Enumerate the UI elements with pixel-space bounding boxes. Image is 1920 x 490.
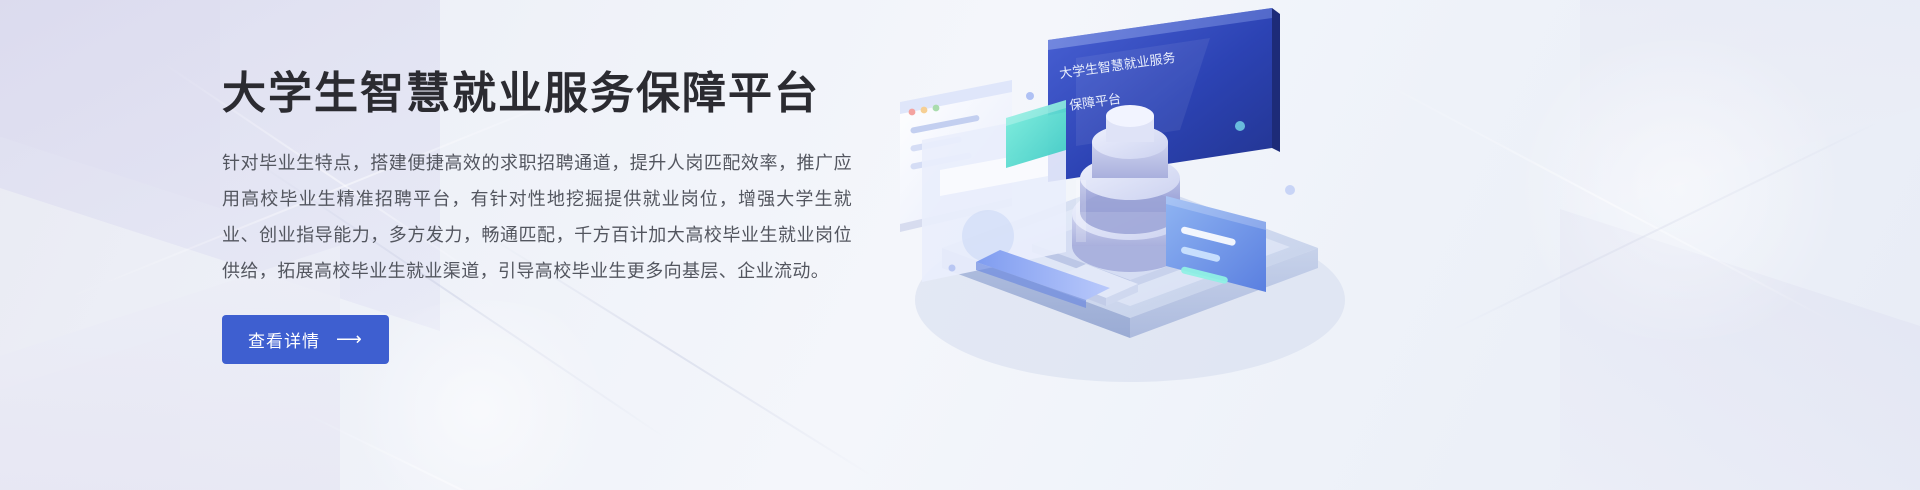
decor-shape-top-left-back bbox=[0, 0, 220, 208]
decor-shape-bottom-left-back bbox=[0, 332, 180, 490]
hero-banner: 大学生智慧就业服务保障平台 针对毕业生特点，搭建便捷高效的求职招聘通道，提升人岗… bbox=[0, 0, 1920, 490]
hero-illustration: 大学生智慧就业服务 保障平台 bbox=[880, 0, 1400, 490]
hero-description: 针对毕业生特点，搭建便捷高效的求职招聘通道，提升人岗匹配效率，推广应用高校毕业生… bbox=[222, 145, 852, 289]
view-details-button[interactable]: 查看详情 ⟶ bbox=[222, 315, 389, 364]
decor-dot-2 bbox=[1285, 185, 1295, 195]
decor-glow-2 bbox=[1500, 40, 1860, 340]
arrow-right-icon: ⟶ bbox=[336, 330, 363, 348]
hero-content: 大学生智慧就业服务保障平台 针对毕业生特点，搭建便捷高效的求职招聘通道，提升人岗… bbox=[222, 68, 862, 364]
decor-dot-1 bbox=[1026, 92, 1034, 100]
decor-dot-3 bbox=[949, 265, 956, 272]
page-title: 大学生智慧就业服务保障平台 bbox=[222, 68, 862, 121]
view-details-label: 查看详情 bbox=[248, 327, 320, 352]
isometric-scene: 大学生智慧就业服务 保障平台 bbox=[880, 0, 1400, 490]
